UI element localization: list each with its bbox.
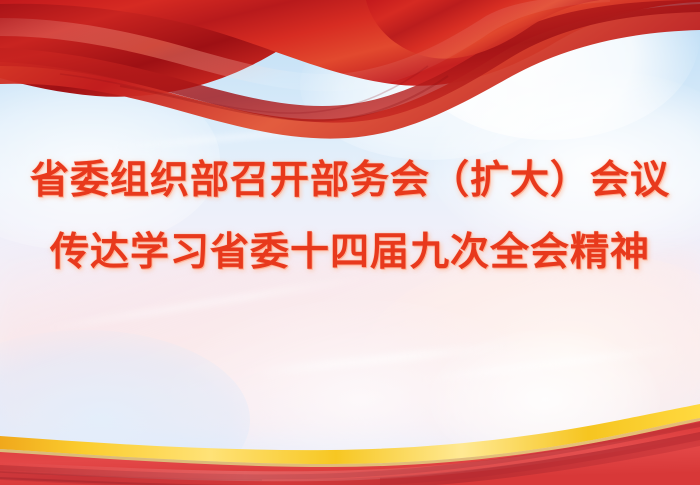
pink-haze-layer xyxy=(0,255,700,435)
title-line-1: 省委组织部召开部务会（扩大）会议 xyxy=(0,152,700,209)
poster-title: 省委组织部召开部务会（扩大）会议 传达学习省委十四届九次全会精神 xyxy=(0,152,700,281)
poster-banner: 省委组织部召开部务会（扩大）会议 传达学习省委十四届九次全会精神 xyxy=(0,0,700,485)
title-line-2: 传达学习省委十四届九次全会精神 xyxy=(0,224,700,281)
